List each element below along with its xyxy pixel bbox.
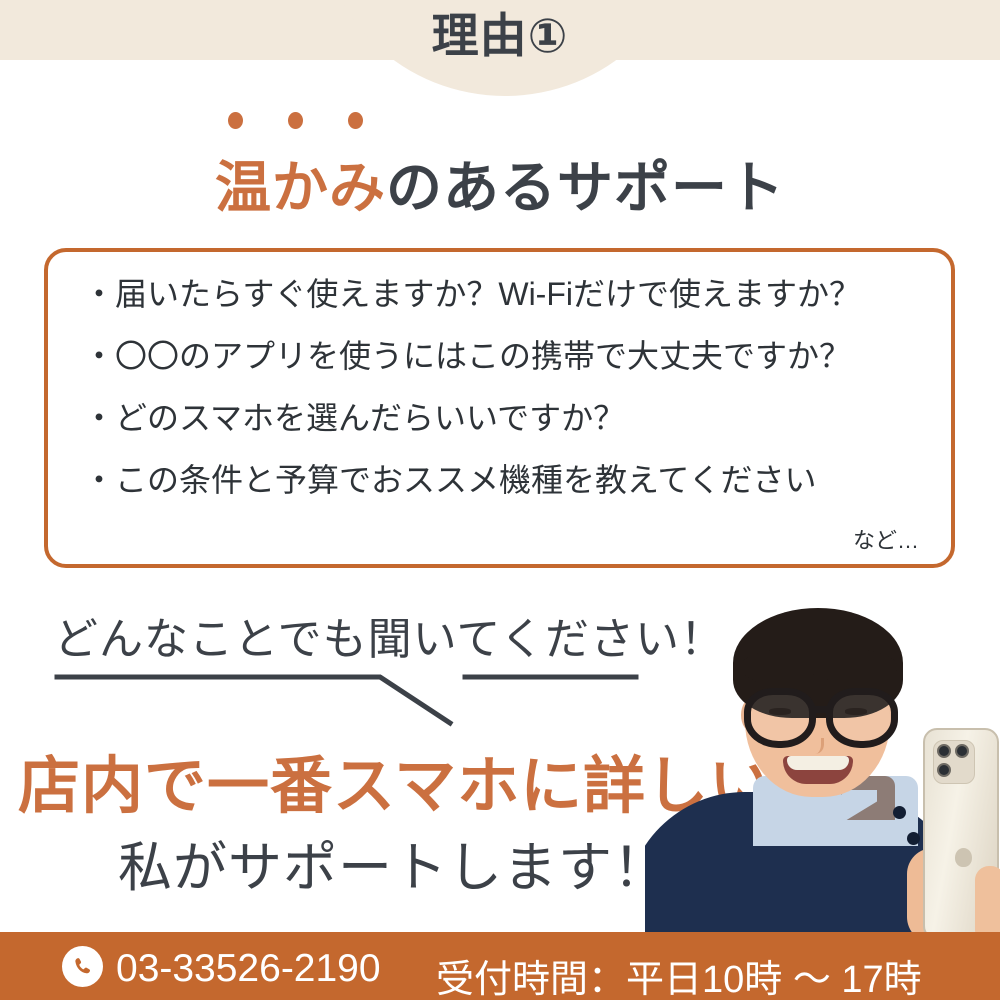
business-hours: 受付時間：平日10時 〜 17時 — [436, 948, 922, 1000]
glasses-lens-left-icon — [744, 688, 816, 748]
list-item: ・どのスマホを選んだらいいですか？ — [83, 402, 943, 434]
staff-photo — [645, 580, 1000, 940]
dot-icon — [228, 112, 243, 129]
question-list: ・届いたらすぐ使えますか？Wi-Fiだけで使えますか？ ・〇〇のアプリを使うには… — [83, 278, 943, 496]
mouth-shape — [783, 756, 853, 784]
glasses-lens-right-icon — [826, 688, 898, 748]
main-heading: 温かみのあるサポート — [0, 143, 1000, 224]
phone-number[interactable]: 03-33526-2190 — [116, 947, 381, 991]
sweater-button — [893, 806, 906, 819]
list-item: ・届いたらすぐ使えますか？Wi-Fiだけで使えますか？ — [83, 278, 943, 310]
phone-icon — [62, 946, 103, 987]
list-item: ・〇〇のアプリを使うにはこの携帯で大丈夫ですか？ — [83, 340, 943, 372]
speech-tail-underline-icon — [40, 655, 660, 735]
contact-footer: 03-33526-2190 受付時間：平日10時 〜 17時 — [0, 932, 1000, 1000]
fingers-shape — [975, 866, 1000, 940]
camera-module-icon — [933, 740, 975, 784]
camera-lens-icon — [937, 763, 951, 777]
glasses-bridge-icon — [812, 706, 830, 713]
eye-right — [845, 708, 867, 715]
question-list-box: ・届いたらすぐ使えますか？Wi-Fiだけで使えますか？ ・〇〇のアプリを使うには… — [44, 248, 955, 568]
main-heading-rest: のあるサポート — [386, 156, 785, 219]
apple-logo-icon — [955, 848, 972, 867]
poster-root: 理由① 温かみのあるサポート ・届いたらすぐ使えますか？Wi-Fiだけで使えます… — [0, 0, 1000, 1000]
eye-left — [769, 708, 791, 715]
main-heading-accent: 温かみ — [215, 156, 386, 219]
etc-label: など… — [853, 523, 919, 555]
headline-dark: 私がサポートします！ — [118, 823, 668, 902]
dot-icon — [348, 112, 363, 129]
camera-lens-icon — [937, 744, 951, 758]
teeth-shape — [787, 756, 849, 770]
camera-lens-icon — [955, 744, 969, 758]
emphasis-dots — [228, 112, 363, 129]
list-item: ・この条件と予算でおススメ機種を教えてください — [83, 464, 943, 496]
dot-icon — [288, 112, 303, 129]
sweater-button — [907, 832, 920, 845]
page-title: 理由① — [0, 11, 1000, 62]
